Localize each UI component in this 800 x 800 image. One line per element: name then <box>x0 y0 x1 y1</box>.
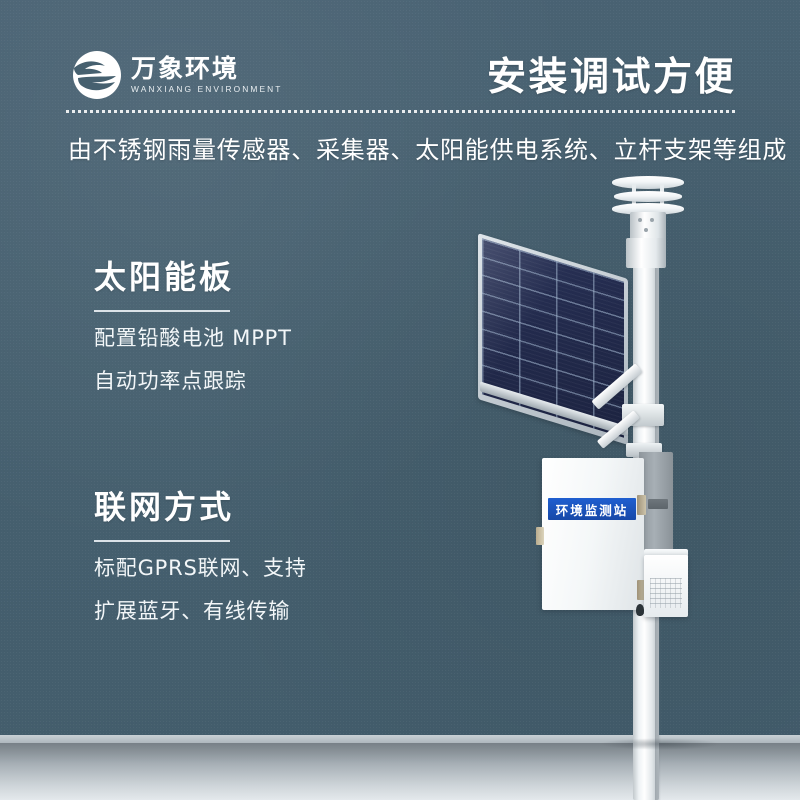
sensor-disc <box>614 191 682 202</box>
enclosure-vent <box>648 499 668 509</box>
brand-name-en: WANXIANG ENVIRONMENT <box>131 85 283 94</box>
monitoring-station-device: 环境监测站 <box>0 0 800 800</box>
enclosure-hinge <box>637 495 646 515</box>
enclosure-label-text: 环境监测站 <box>556 500 629 519</box>
promo-banner: 万象环境 WANXIANG ENVIRONMENT 安装调试方便 由不锈钢雨量传… <box>0 0 800 800</box>
cable-gland <box>636 604 644 616</box>
brand-logo: 万象环境 WANXIANG ENVIRONMENT <box>72 50 283 100</box>
feature-block-network: 联网方式 标配GPRS联网、支持 扩展蓝牙、有线传输 <box>94 488 307 622</box>
ultrasonic-weather-sensor-icon <box>612 176 684 228</box>
feature-line: 扩展蓝牙、有线传输 <box>94 601 307 622</box>
feature-title: 联网方式 <box>94 488 307 526</box>
brand-text: 万象环境 WANXIANG ENVIRONMENT <box>131 55 283 94</box>
sensor-port <box>644 228 648 232</box>
wanxiang-circle-swirl-logo-icon <box>72 50 122 100</box>
sensor-neck <box>626 238 666 268</box>
feature-line: 标配GPRS联网、支持 <box>94 558 307 579</box>
feature-rule <box>94 540 230 542</box>
sensor-disc <box>612 176 684 189</box>
sensor-port <box>638 218 642 222</box>
header-dotted-divider <box>66 110 736 113</box>
sub-box-grill <box>650 578 682 608</box>
brand-name-cn: 万象环境 <box>131 55 283 82</box>
enclosure-label-plate: 环境监测站 <box>548 498 636 520</box>
feature-block-solar-panel: 太阳能板 配置铅酸电池 MPPT 自动功率点跟踪 <box>94 258 292 392</box>
pole-ground-shadow <box>600 738 720 750</box>
sensor-port <box>650 218 654 222</box>
page-subtitle: 由不锈钢雨量传感器、采集器、太阳能供电系统、立杆支架等组成 <box>68 130 787 165</box>
feature-rule <box>94 310 230 312</box>
feature-title: 太阳能板 <box>94 258 292 296</box>
enclosure-door <box>542 458 644 610</box>
feature-line: 配置铅酸电池 MPPT <box>94 328 292 349</box>
enclosure-latch <box>536 527 544 545</box>
feature-line: 自动功率点跟踪 <box>94 371 292 392</box>
page-title: 安装调试方便 <box>487 46 736 102</box>
